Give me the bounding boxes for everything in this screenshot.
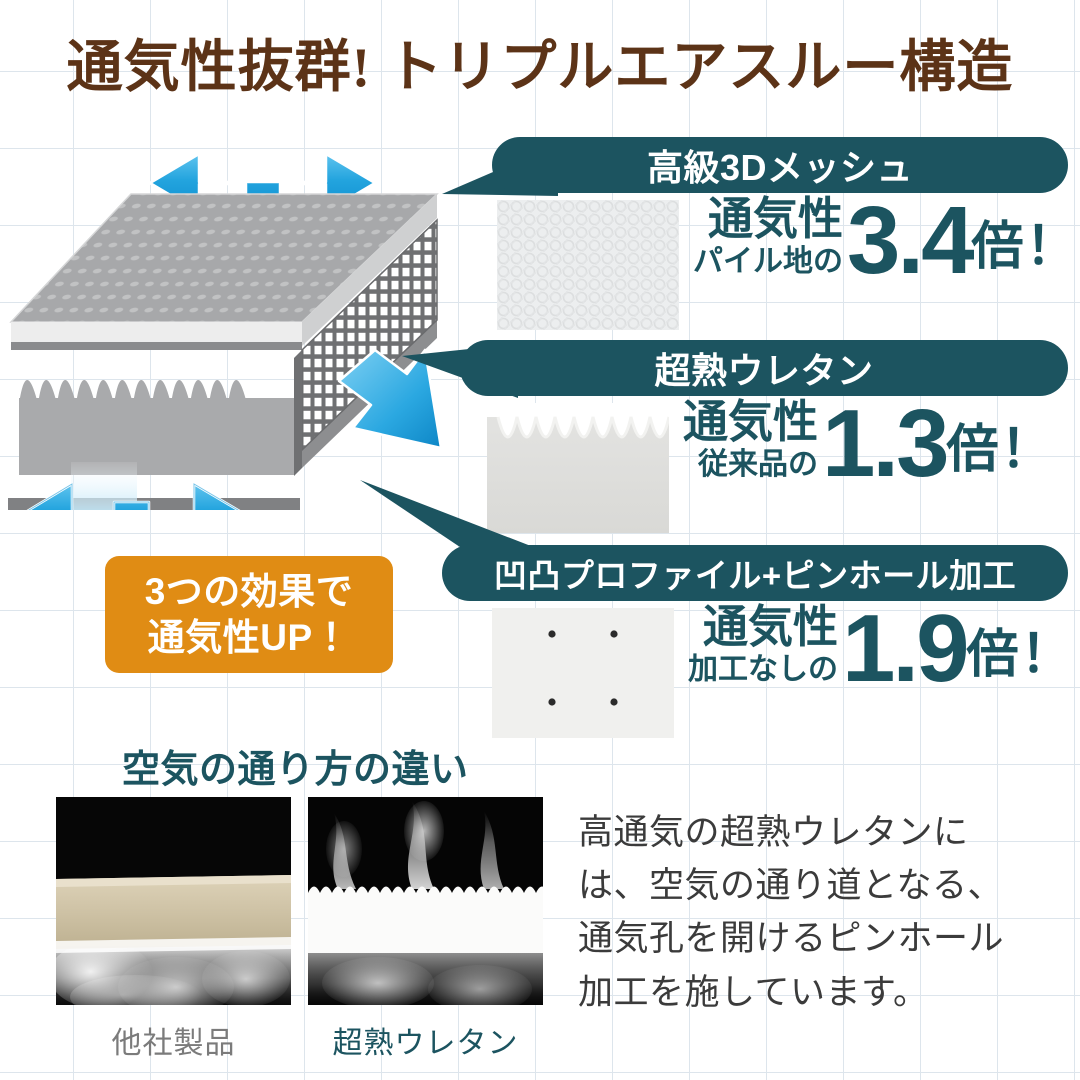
- banner-label: 高級3Dメッシュ: [647, 139, 913, 191]
- stat-sub-label: パイル地の: [693, 247, 843, 277]
- callout-banner-pinhole[interactable]: 凹凸プロファイル+ピンホール加工: [442, 545, 1068, 601]
- stat-top-label: 通気性: [703, 604, 838, 649]
- 3d-mesh-fabric-swatch: [497, 200, 679, 330]
- banner-label: 超熟ウレタン: [654, 342, 873, 394]
- photo-caption-chojuku-urethane: 超熟ウレタン: [308, 1018, 543, 1062]
- airflow-comparison-heading: 空気の通り方の違い: [122, 738, 469, 793]
- stat-unit: 倍: [971, 204, 1023, 283]
- stat-top-label: 通気性: [683, 399, 818, 444]
- stat-top-label: 通気性: [708, 196, 843, 241]
- stat-number: 3.4: [847, 200, 971, 283]
- mattress-cross-section-diagram: [0, 110, 464, 510]
- callout-banner-3d-mesh[interactable]: 高級3Dメッシュ: [492, 137, 1068, 193]
- stat-exclamation: ！: [1025, 204, 1077, 283]
- infographic-page: 通気性抜群! トリプルエアスルー構造: [0, 0, 1080, 1080]
- photo-caption-other-company: 他社製品: [56, 1018, 291, 1062]
- paragraph-line: 加工を施しています。: [578, 966, 1058, 1019]
- pinhole-processed-foam-swatch: [492, 608, 674, 738]
- paragraph-line: 通気孔を開けるピンホール: [578, 912, 1058, 965]
- banner-label: 凹凸プロファイル+ピンホール加工: [494, 549, 1016, 597]
- three-effects-callout-box: 3つの効果で 通気性UP！: [105, 556, 393, 673]
- stat-unit: 倍: [946, 407, 998, 486]
- stat-exclamation: ！: [1020, 612, 1072, 691]
- description-paragraph: 高通気の超熟ウレタンに は、空気の通り道となる、 通気孔を開けるピンホール 加工…: [578, 806, 1058, 1019]
- stat-sub-label: 加工なしの: [688, 655, 838, 685]
- profiled-urethane-core: [19, 380, 294, 475]
- paragraph-line: は、空気の通り道となる、: [578, 859, 1058, 912]
- stat-unit: 倍: [966, 612, 1018, 691]
- stat-3d-mesh: 通気性 パイル地の 3.4 倍 ！: [693, 196, 1077, 283]
- stat-chojuku-urethane: 通気性 従来品の 1.3 倍 ！: [683, 399, 1053, 486]
- smoke-test-other-company-photo: [56, 797, 291, 1005]
- orange-box-line-1: 3つの効果で: [145, 569, 354, 614]
- callout-banner-chojuku-urethane[interactable]: 超熟ウレタン: [460, 340, 1068, 396]
- page-title: 通気性抜群! トリプルエアスルー構造: [0, 22, 1080, 103]
- stat-exclamation: ！: [1000, 407, 1052, 486]
- orange-box-line-2: 通気性UP！: [148, 615, 350, 660]
- stat-pinhole: 通気性 加工なしの 1.9 倍 ！: [688, 604, 1072, 691]
- stat-sub-label: 従来品の: [698, 450, 818, 480]
- stat-number: 1.3: [822, 403, 946, 486]
- paragraph-line: 高通気の超熟ウレタンに: [578, 806, 1058, 859]
- stat-number: 1.9: [842, 608, 966, 691]
- smoke-test-chojuku-urethane-photo: [308, 797, 543, 1005]
